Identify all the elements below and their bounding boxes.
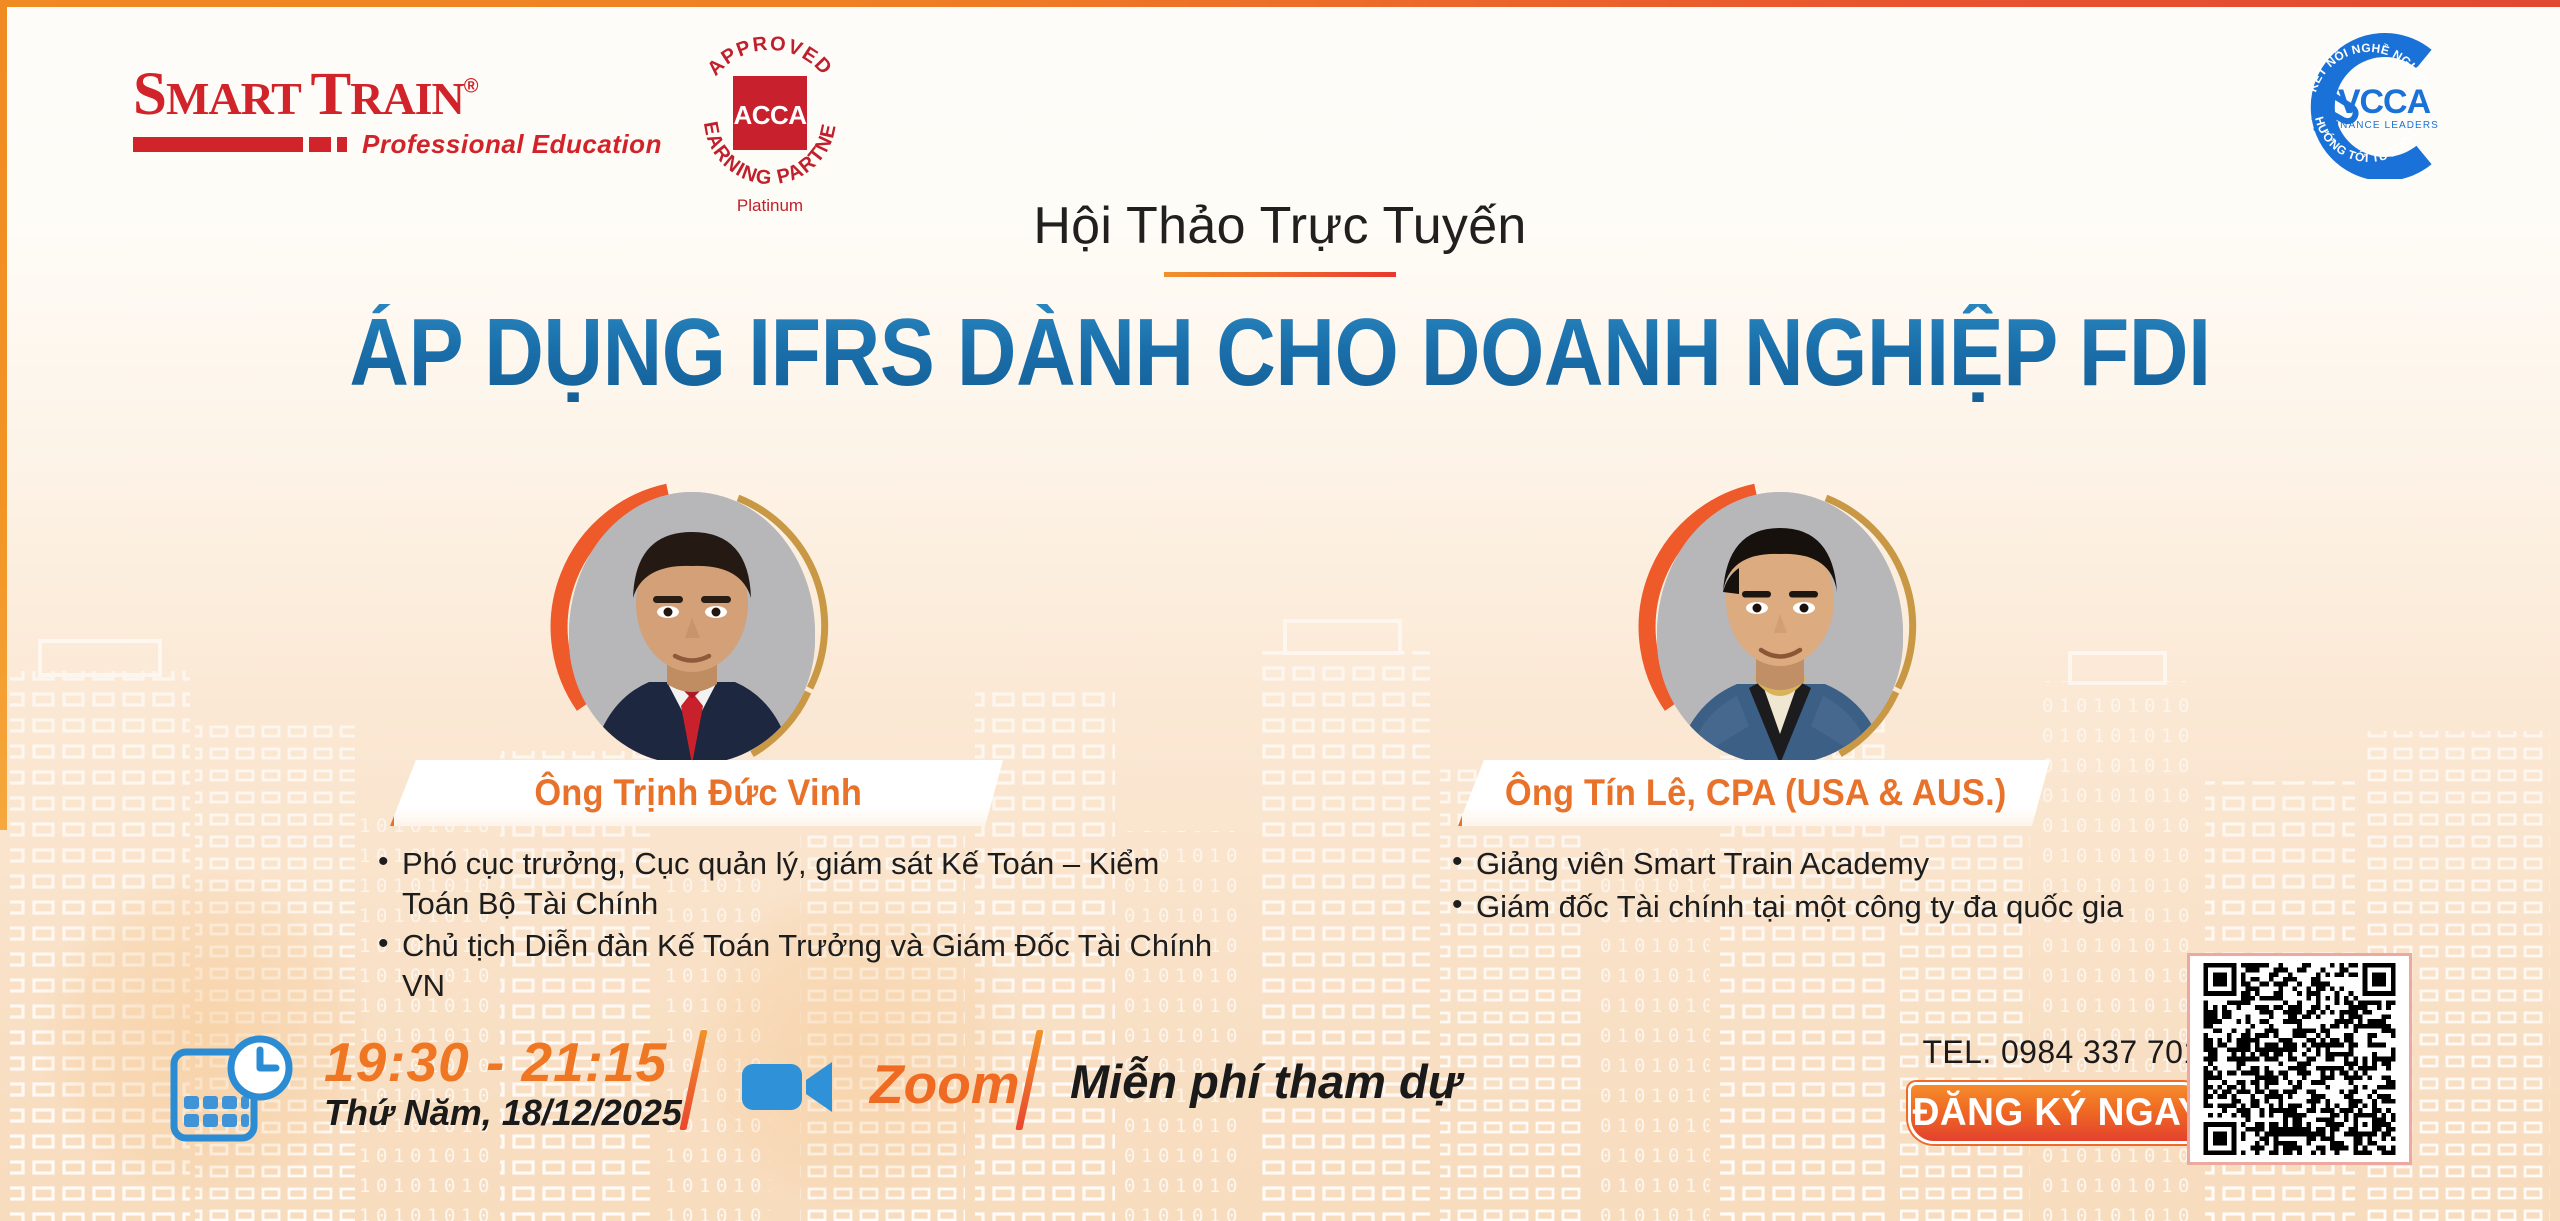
event-date: Thứ Năm, 18/12/2025 — [324, 1092, 682, 1134]
register-button-label: ĐĂNG KÝ NGAY — [1913, 1091, 2203, 1135]
list-item: Phó cục trưởng, Cục quản lý, giám sát Kế… — [374, 844, 1234, 923]
speaker-2-portrait-wrap — [1630, 478, 1930, 778]
logo-text-rain: RAIN — [350, 73, 464, 124]
contact-phone: TEL. 0984 337 701 — [1912, 1034, 2212, 1071]
speaker-1-photo — [569, 492, 815, 764]
qr-code-image — [2197, 963, 2402, 1155]
logo-text-mart: MART — [166, 73, 311, 124]
event-details-bar: 19:30 - 21:15 Thứ Năm, 18/12/2025 Zoom M… — [0, 1012, 2560, 1162]
smart-train-logo: SMART TRAIN® Professional Education — [133, 66, 662, 160]
logo-bar-mid — [309, 137, 331, 152]
webinar-poster: 0 1 — [0, 0, 2560, 1221]
kicker-underline — [1164, 272, 1396, 277]
calendar-clock-icon — [168, 1034, 300, 1142]
list-item: Giảng viên Smart Train Academy — [1448, 844, 2308, 884]
svg-text:APPROVED: APPROVED — [703, 33, 836, 80]
speaker-2-photo — [1657, 492, 1903, 764]
speaker-2-name-banner: Ông Tín Lê, CPA (USA & AUS.) — [1458, 760, 2050, 826]
event-time: 19:30 - 21:15 — [324, 1030, 667, 1094]
logo-letter-t: T — [311, 61, 351, 128]
vcca-subtitle: FINANCE LEADERS — [2329, 120, 2439, 131]
logo-bar-long — [133, 137, 303, 152]
vcca-finance-leaders-logo: KẾT NỐI NGHỀ NGHIỆP HƯỚNG TỚI TƯƠNG LAI … — [2284, 33, 2450, 179]
page-title: ÁP DỤNG IFRS DÀNH CHO DOANH NGHIỆP FDI — [179, 304, 2381, 402]
vcca-center-text: VCCA — [2338, 83, 2431, 121]
page-kicker: Hội Thảo Trực Tuyến — [0, 196, 2560, 256]
smart-train-wordmark: SMART TRAIN® — [133, 66, 662, 124]
platform-label: Zoom — [870, 1052, 1020, 1116]
logo-underline: Professional Education — [133, 129, 662, 160]
registration-qr-code[interactable] — [2187, 953, 2412, 1165]
registered-mark-icon: ® — [464, 76, 478, 98]
video-camera-icon — [740, 1056, 836, 1118]
acca-approved-learning-partner-badge: APPROVED LEARNING PARTNER ACCA — [682, 30, 858, 206]
speaker-2-credentials: Giảng viên Smart Train Academy Giám đốc … — [1448, 844, 2308, 926]
acca-arc-top: APPROVED — [703, 33, 836, 80]
speaker-2-name: Ông Tín Lê, CPA (USA & AUS.) — [1505, 772, 2007, 814]
speaker-1-name-banner: Ông Trịnh Đức Vinh — [390, 760, 1003, 826]
speaker-card-2: Ông Tín Lê, CPA (USA & AUS.) Giảng viên … — [1330, 478, 2390, 929]
separator-slash-1 — [679, 1030, 707, 1130]
speaker-card-1: Ông Trịnh Đức Vinh Phó cục trưởng, Cục q… — [230, 478, 1290, 1009]
speaker-1-portrait-wrap — [542, 478, 842, 778]
logo-letter-s: S — [133, 61, 166, 128]
list-item: Chủ tịch Diễn đàn Kế Toán Trưởng và Giám… — [374, 926, 1234, 1005]
logo-bar-short — [337, 137, 347, 152]
fee-label: Miễn phí tham dự — [1070, 1054, 1461, 1109]
acca-center-text: ACCA — [733, 100, 807, 130]
speaker-1-name: Ông Trịnh Đức Vinh — [535, 772, 863, 814]
list-item: Giám đốc Tài chính tại một công ty đa qu… — [1448, 887, 2308, 927]
register-button[interactable]: ĐĂNG KÝ NGAY — [1908, 1082, 2208, 1144]
speaker-1-credentials: Phó cục trưởng, Cục quản lý, giám sát Kế… — [374, 844, 1234, 1006]
logo-tagline: Professional Education — [362, 129, 662, 160]
